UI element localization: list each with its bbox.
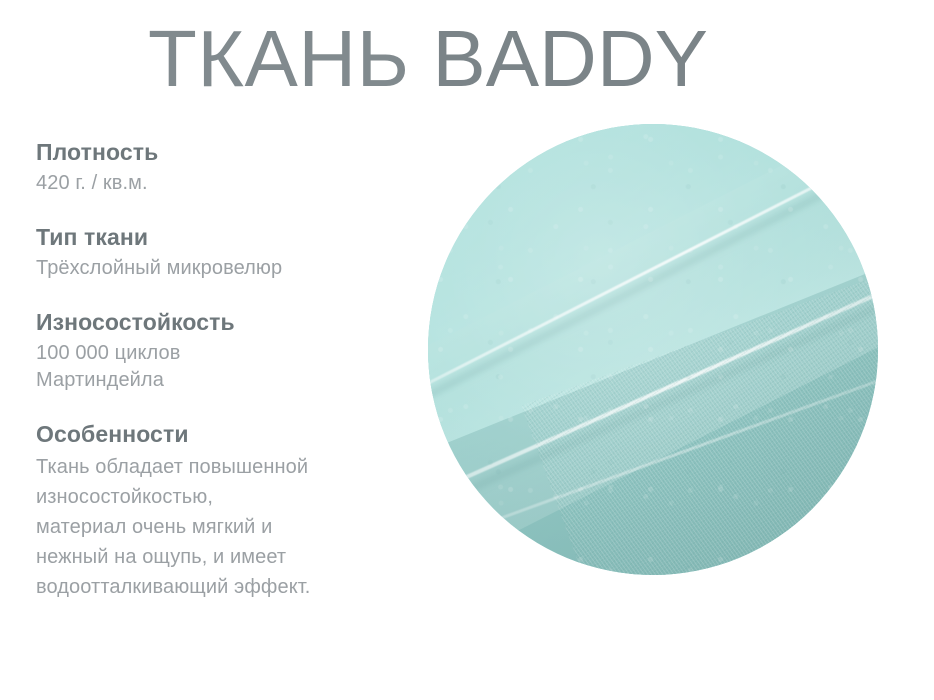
brand-name: BADDY <box>432 14 708 103</box>
spec-value-fabric-type: Трёхслойный микровелюр <box>36 255 386 282</box>
spec-label-durability: Износостойкость <box>36 308 386 337</box>
spec-item-fabric-type: Тип ткани Трёхслойный микровелюр <box>36 223 386 282</box>
spec-item-features: Особенности Ткань обладает повышенной из… <box>36 420 386 602</box>
spec-label-fabric-type: Тип ткани <box>36 223 386 252</box>
spec-item-durability: Износостойкость 100 000 циклов Мартиндей… <box>36 308 386 394</box>
spec-value-features: Ткань обладает повышенной износостойкост… <box>36 452 386 602</box>
spec-label-features: Особенности <box>36 420 386 449</box>
spec-list: Плотность 420 г. / кв.м. Тип ткани Трёхс… <box>36 138 386 602</box>
spec-label-density: Плотность <box>36 138 386 167</box>
fabric-vignette <box>428 124 878 575</box>
fabric-spec-card: ТКАНЬ BADDY Плотность 420 г. / кв.м. Тип… <box>0 0 934 700</box>
page-title-prefix: ТКАНЬ <box>148 14 432 103</box>
page-title: ТКАНЬ BADDY <box>148 12 708 106</box>
spec-value-durability: 100 000 циклов Мартиндейла <box>36 340 386 394</box>
fabric-photo-inner <box>428 124 878 575</box>
fabric-swatch-photo <box>428 124 878 575</box>
spec-item-density: Плотность 420 г. / кв.м. <box>36 138 386 197</box>
spec-value-density: 420 г. / кв.м. <box>36 170 386 197</box>
